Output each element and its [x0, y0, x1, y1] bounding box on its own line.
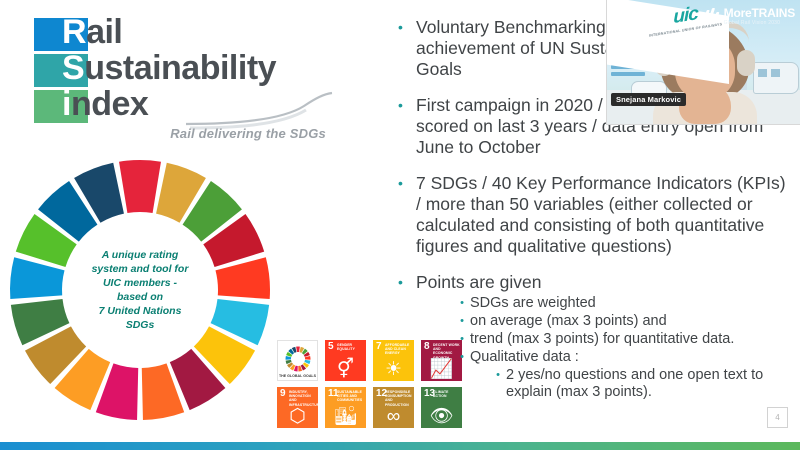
sdg-title: GENDER EQUALITY	[337, 343, 364, 351]
wheel-center-line-5: 7 United Nations	[76, 304, 204, 318]
logo-rest-ail: ail	[86, 13, 122, 51]
sub-bullet-dot-icon: •	[490, 367, 506, 384]
global-goals-label: THE GLOBAL GOALS	[278, 374, 317, 378]
sub-bullet-item-3: •trend (max 3 points) for quantitative d…	[454, 331, 792, 348]
wheel-center-line-6: SDGs	[76, 318, 204, 332]
sdg-glyph-icon: ⚥	[325, 360, 366, 379]
moretrains-subtitle: Global Rail Vision 2030	[724, 20, 795, 27]
bullet-dot-icon: •	[398, 173, 416, 194]
moretrains-mark-icon	[700, 8, 720, 21]
sub-bullet-list: •SDGs are weighted•on average (max 3 poi…	[454, 295, 792, 401]
sdg-glyph-icon: 🏙	[325, 407, 366, 426]
bullet-dot-icon: •	[398, 95, 416, 116]
sub-bullet-text: SDGs are weighted	[470, 295, 792, 312]
sub-bullet-text: trend (max 3 points) for quantitative da…	[470, 331, 792, 348]
rail-sustainability-index-logo: Rail Sustainability index Rail deliverin…	[34, 18, 334, 138]
speaker-hands	[679, 84, 731, 124]
logo-cap-i: i	[62, 85, 71, 123]
wheel-center-text: A unique ratingsystem and tool forUIC me…	[76, 248, 204, 332]
sub-bullet-text: on average (max 3 points) and	[470, 313, 792, 330]
speaker-name-label: Snejana Markovic	[611, 93, 686, 106]
slide-canvas: Rail Sustainability index Rail deliverin…	[0, 0, 800, 450]
sdg-title: INDUSTRY, INNOVATION AND INFRASTRUCTURE	[289, 390, 316, 407]
sub-bullet-item-1: •SDGs are weighted	[454, 295, 792, 312]
sub-bullet-dot-icon: •	[454, 295, 470, 312]
sub-bullet-item-5: •2 yes/no questions and one open text to…	[490, 367, 792, 401]
sdg-icon-sdg-11[interactable]: 11SUSTAINABLE CITIES AND COMMUNITIES🏙	[325, 387, 366, 428]
wheel-center-line-2: system and tool for	[76, 262, 204, 276]
sub-bullet-dot-icon: •	[454, 349, 470, 366]
moretrains-wordmark: MoreTRAINS	[724, 7, 795, 20]
logo-word-sustainability: Sustainability	[62, 49, 276, 87]
sub-bullet-text: Qualitative data :	[470, 349, 792, 366]
sdg-glyph-icon: ∞	[373, 407, 414, 426]
logo-rest-ustainability: ustainability	[84, 49, 276, 87]
logo-line-sustainability: Sustainability	[34, 54, 334, 87]
sdg-glyph-icon: 👁	[421, 407, 462, 426]
logo-cap-r: R	[62, 13, 86, 51]
bullet-dot-icon: •	[398, 272, 416, 293]
sub-bullet-dot-icon: •	[454, 313, 470, 330]
bullet-text: Points are given	[416, 272, 792, 293]
bullet-dot-icon: •	[398, 17, 416, 38]
wheel-segment-1	[119, 160, 161, 213]
speaker-video-overlay[interactable]: uic INTERNATIONAL UNION OF RAILWAYS More…	[606, 0, 800, 125]
logo-line-rail: Rail	[34, 18, 334, 51]
headphone-cup-right-icon	[737, 50, 755, 76]
logo-cap-s: S	[62, 49, 84, 87]
logo-word-rail: Rail	[62, 13, 122, 51]
wheel-center-line-4: based on	[76, 290, 204, 304]
global-goals-wheel-icon	[285, 346, 311, 372]
moretrains-branding: MoreTRAINS Global Rail Vision 2030	[724, 7, 795, 27]
train-swoosh-icon	[184, 90, 334, 130]
bullet-item-3: •7 SDGs / 40 Key Performance Indicators …	[398, 173, 792, 257]
page-number-box: 4	[767, 407, 788, 428]
sdg-icon-sdg-9[interactable]: 9INDUSTRY, INNOVATION AND INFRASTRUCTURE…	[277, 387, 318, 428]
sub-bullet-dot-icon: •	[454, 331, 470, 348]
video-train-icon	[753, 62, 799, 94]
sdg-number: 7	[376, 342, 382, 352]
sdg-number: 5	[328, 342, 334, 352]
wheel-center-line-3: UIC members -	[76, 276, 204, 290]
sdg-glyph-icon: ⬡	[277, 407, 318, 426]
sdg-icon-sdg-5[interactable]: 5GENDER EQUALITY⚥	[325, 340, 366, 381]
logo-rest-ndex: ndex	[71, 85, 148, 123]
sub-bullet-item-2: •on average (max 3 points) and	[454, 313, 792, 330]
sub-bullet-item-4: •Qualitative data :	[454, 349, 792, 366]
bullet-text: 7 SDGs / 40 Key Performance Indicators (…	[416, 173, 792, 257]
wheel-center-line-1: A unique rating	[76, 248, 204, 262]
bottom-gradient-bar	[0, 442, 800, 450]
sub-bullet-text: 2 yes/no questions and one open text to …	[506, 367, 792, 401]
sdg-icon-the-global-goals[interactable]: THE GLOBAL GOALS	[277, 340, 318, 381]
logo-tagline: Rail delivering the SDGs	[170, 126, 326, 141]
logo-word-index: index	[62, 85, 148, 123]
bullet-item-4: •Points are given	[398, 272, 792, 293]
sdg-color-wheel: A unique ratingsystem and tool forUIC me…	[6, 156, 274, 424]
sdg-title: SUSTAINABLE CITIES AND COMMUNITIES	[337, 390, 364, 403]
sdg-number: 9	[280, 389, 286, 399]
